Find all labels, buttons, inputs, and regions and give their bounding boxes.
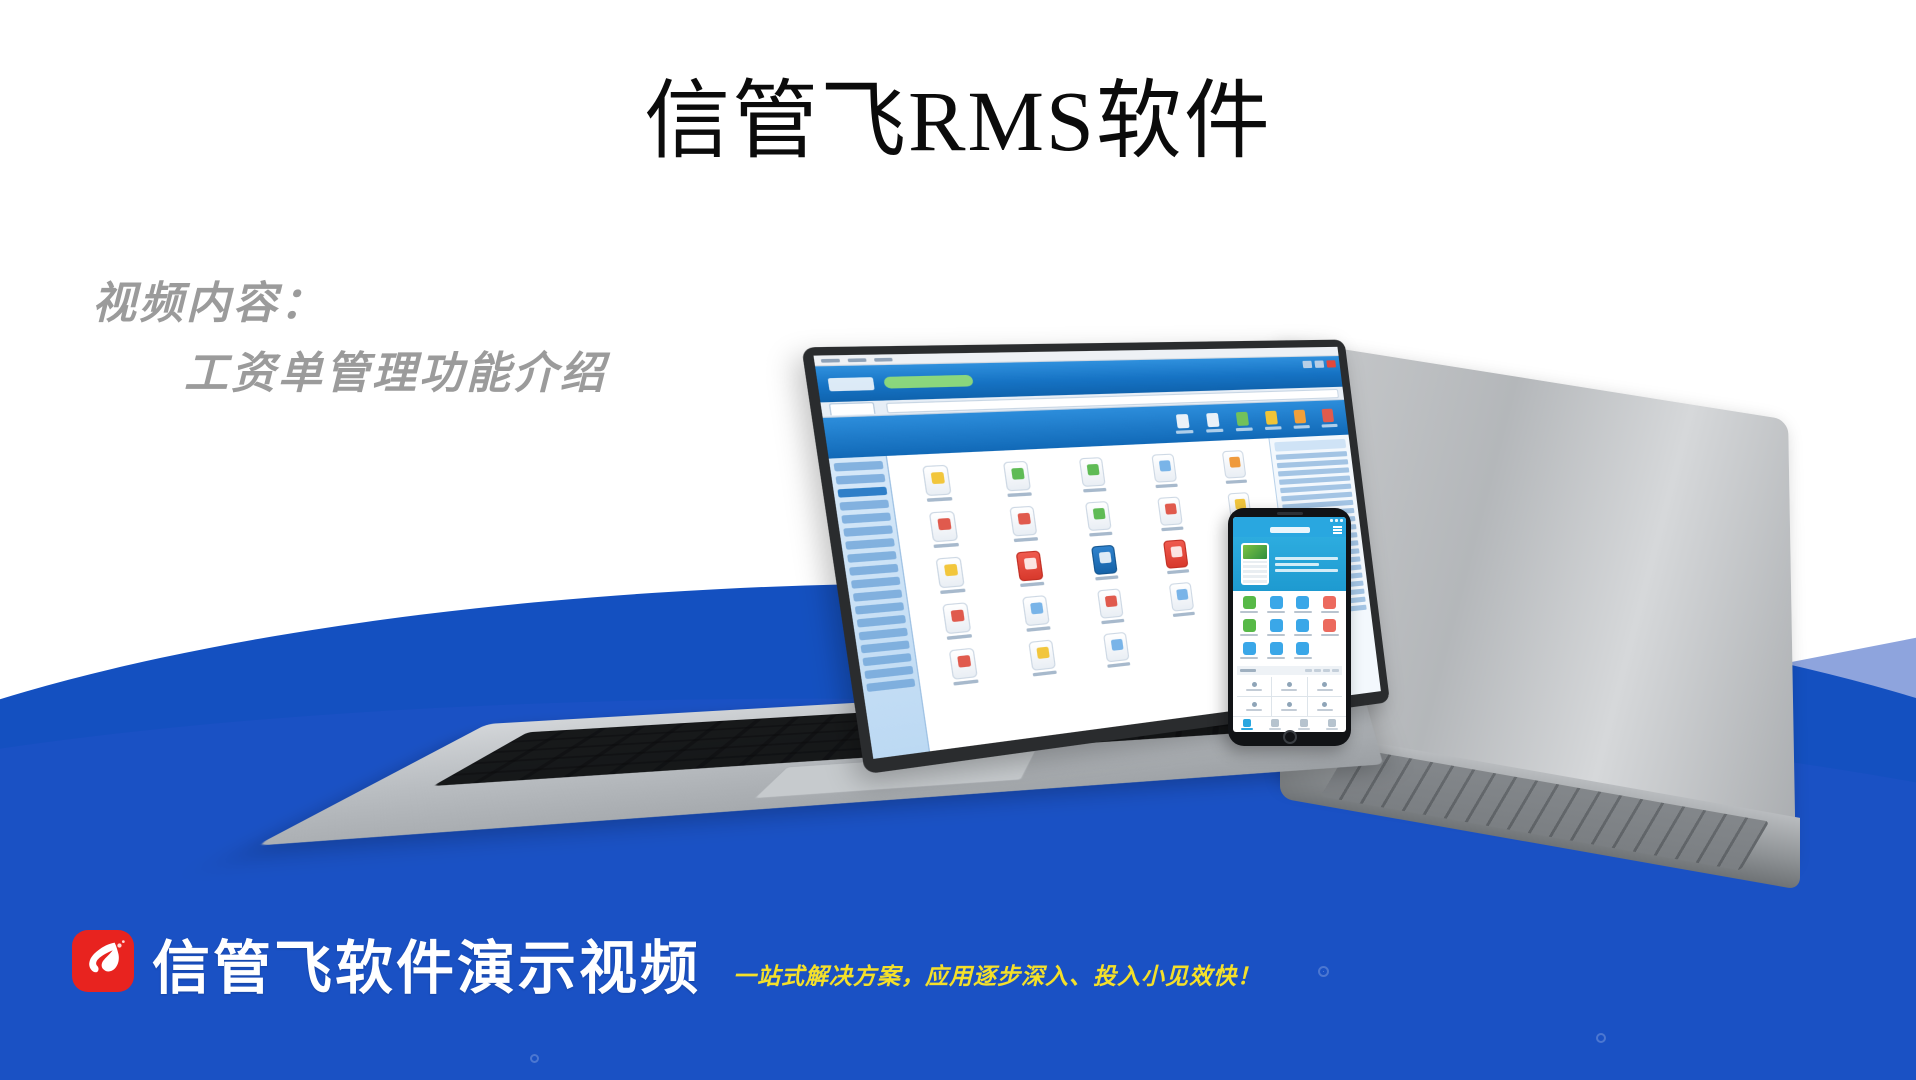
sidebar-item[interactable]	[866, 678, 915, 692]
module-icon-label	[1032, 671, 1056, 677]
stat-card-icon	[1252, 682, 1257, 687]
app-module-icon[interactable]	[991, 549, 1068, 590]
shortcut-label	[1267, 611, 1285, 613]
module-icon-glyph	[1009, 506, 1037, 537]
module-icon-label	[1095, 575, 1118, 580]
hero-device-illustration	[1241, 543, 1269, 585]
shortcut-label	[1321, 634, 1339, 636]
mobile-shortcut-icon[interactable]	[1264, 642, 1289, 659]
mobile-shortcut-icon[interactable]	[1291, 596, 1316, 613]
mobile-stat-cards[interactable]	[1237, 677, 1342, 716]
menu-item[interactable]	[821, 358, 840, 362]
decorative-dot	[1318, 966, 1329, 977]
phone-earpiece	[1277, 512, 1303, 515]
module-icon-glyph	[1091, 545, 1118, 575]
module-icon-label	[1083, 488, 1106, 493]
tab-label	[1269, 728, 1281, 730]
minimize-icon[interactable]	[1302, 361, 1312, 368]
mobile-shortcut-icon[interactable]	[1264, 596, 1289, 613]
toolbar-icon	[1236, 412, 1249, 426]
module-icon-glyph	[1152, 454, 1178, 483]
module-icon-glyph	[922, 465, 952, 496]
module-icon-label	[1013, 537, 1037, 542]
stat-card-label	[1281, 689, 1297, 691]
toolbar-label	[1235, 427, 1252, 431]
hero-image	[1243, 545, 1267, 559]
stat-card-label	[1317, 709, 1333, 711]
shortcut-glyph	[1323, 596, 1336, 609]
toolbar-button[interactable]	[1203, 413, 1224, 433]
app-module-icon[interactable]	[978, 460, 1056, 499]
module-icon-glyph	[1222, 450, 1247, 479]
module-icon-label	[1162, 526, 1184, 531]
smartphone-mockup	[1228, 508, 1351, 746]
sidebar-item[interactable]	[864, 666, 913, 679]
shortcut-glyph	[1270, 642, 1283, 655]
shortcut-glyph	[1296, 619, 1309, 632]
tab-icon	[1243, 719, 1251, 727]
stat-card-label	[1246, 709, 1262, 711]
sidebar-item[interactable]	[839, 500, 889, 511]
mobile-section-header	[1237, 666, 1342, 675]
mobile-shortcut-icon[interactable]	[1317, 619, 1342, 636]
mobile-shortcut-icon[interactable]	[1237, 619, 1262, 636]
mobile-stat-card[interactable]	[1237, 677, 1271, 696]
shortcut-glyph	[1270, 619, 1283, 632]
app-module-icon[interactable]	[1200, 449, 1268, 485]
page-title: 信管飞RMS软件	[0, 72, 1916, 171]
video-content-block: 视频内容： 工资单管理功能介绍	[92, 282, 607, 396]
stat-card-icon	[1322, 682, 1327, 687]
mobile-stat-card[interactable]	[1272, 677, 1306, 696]
xinguanfei-bird-logo-icon	[72, 930, 134, 992]
module-icon-glyph	[949, 648, 978, 680]
shortcut-label	[1294, 611, 1312, 613]
sidebar-item[interactable]	[837, 487, 887, 498]
sidebar-item[interactable]	[843, 525, 893, 537]
mobile-shortcut-grid[interactable]	[1233, 591, 1346, 664]
app-module-icon[interactable]	[1129, 452, 1200, 489]
app-module-icon[interactable]	[910, 555, 991, 597]
app-module-icon[interactable]	[984, 504, 1061, 544]
shortcut-glyph	[1270, 596, 1283, 609]
shortcut-label	[1267, 657, 1285, 659]
app-module-icon[interactable]	[1141, 538, 1211, 577]
mobile-shortcut-icon[interactable]	[1237, 596, 1262, 613]
module-icon-label	[1225, 480, 1246, 484]
module-icon-glyph	[1163, 539, 1189, 569]
module-icon-glyph	[1103, 632, 1130, 663]
tab-icon	[1300, 719, 1308, 727]
toolbar-label	[1321, 424, 1337, 428]
sidebar-item[interactable]	[862, 653, 911, 666]
toolbar-icon	[1265, 411, 1278, 425]
sidebar-item[interactable]	[849, 564, 899, 576]
tab-item[interactable]	[829, 402, 876, 415]
module-icon-glyph	[929, 511, 958, 543]
video-content-label: 视频内容：	[92, 282, 607, 326]
tab-label	[1298, 728, 1310, 730]
stat-card-icon	[1322, 702, 1327, 707]
shortcut-label	[1240, 657, 1258, 659]
battery-icon	[1340, 519, 1343, 522]
app-module-icon[interactable]	[923, 645, 1003, 688]
phone-screen-content	[1233, 517, 1346, 732]
mobile-tab-item[interactable]	[1261, 717, 1289, 732]
hero-rows	[1243, 561, 1267, 583]
module-icon-label	[940, 588, 966, 594]
stat-card-label	[1317, 689, 1333, 691]
module-icon-glyph	[942, 602, 971, 634]
sidebar-item[interactable]	[847, 551, 897, 563]
app-module-icon[interactable]	[1061, 500, 1135, 539]
stat-card-icon	[1287, 682, 1292, 687]
shortcut-glyph	[1243, 619, 1256, 632]
module-icon-glyph	[1097, 588, 1124, 619]
close-icon[interactable]	[1326, 360, 1336, 367]
app-module-icon[interactable]	[997, 593, 1074, 634]
tab-label	[1326, 728, 1338, 730]
toolbar-button[interactable]	[1233, 412, 1253, 432]
shortcut-label	[1267, 634, 1285, 636]
toolbar-button[interactable]	[1173, 414, 1194, 434]
toolbar-button[interactable]	[1262, 411, 1282, 430]
module-icon-glyph	[1158, 496, 1184, 525]
menu-item[interactable]	[848, 358, 867, 362]
sidebar-item[interactable]	[859, 628, 908, 641]
mobile-stat-card[interactable]	[1308, 677, 1342, 696]
brand-tagline: 一站式解决方案，应用逐步深入、投入小见效快！	[733, 965, 1261, 988]
module-icon-glyph	[1028, 640, 1056, 671]
app-module-icon[interactable]	[1068, 543, 1142, 583]
module-icon-label	[1020, 582, 1044, 587]
mobile-stat-card[interactable]	[1308, 697, 1342, 716]
hero-text-lines	[1275, 557, 1338, 572]
module-icon-label	[1101, 619, 1124, 625]
sidebar-item[interactable]	[855, 602, 905, 615]
mobile-hero-banner	[1233, 537, 1346, 591]
shortcut-label	[1294, 657, 1312, 659]
shortcut-glyph	[1296, 642, 1309, 655]
app-module-icon[interactable]	[1003, 637, 1079, 679]
shortcut-label	[1240, 611, 1258, 613]
mobile-shortcut-icon[interactable]	[1317, 596, 1342, 613]
module-icon-glyph	[1079, 457, 1106, 487]
module-icon-label	[1107, 662, 1130, 668]
shortcut-glyph	[1243, 596, 1256, 609]
toolbar-label	[1175, 430, 1193, 434]
toolbar-icon	[1176, 414, 1190, 428]
tab-icon	[1271, 719, 1279, 727]
shortcut-glyph	[1323, 619, 1336, 632]
right-panel-row[interactable]	[1277, 459, 1349, 468]
app-module-icon[interactable]	[917, 600, 997, 643]
signal-icon	[1330, 519, 1333, 522]
stat-card-label	[1281, 709, 1297, 711]
app-module-icon[interactable]	[1080, 629, 1153, 670]
toolbar-label	[1264, 426, 1281, 430]
mobile-shortcut-icon[interactable]	[1237, 642, 1262, 659]
toolbar-icon	[1206, 413, 1220, 427]
app-module-icon[interactable]	[1055, 456, 1129, 494]
mobile-app-title	[1270, 527, 1310, 533]
mobile-tab-item[interactable]	[1233, 717, 1261, 732]
app-logo-icon	[828, 377, 875, 391]
phone-home-button[interactable]	[1283, 730, 1297, 744]
mobile-shortcut-icon[interactable]	[1291, 619, 1316, 636]
tab-label	[1241, 728, 1253, 730]
app-module-icon[interactable]	[896, 463, 977, 503]
module-icon-label	[927, 497, 953, 502]
right-panel-row[interactable]	[1276, 451, 1348, 460]
module-icon-glyph	[1002, 461, 1030, 492]
shortcut-glyph	[1243, 642, 1256, 655]
module-icon-label	[1089, 532, 1112, 537]
stat-card-label	[1246, 689, 1262, 691]
stat-card-icon	[1287, 702, 1292, 707]
module-icon-glyph	[936, 557, 965, 589]
shortcut-label	[1240, 634, 1258, 636]
module-icon-label	[1167, 569, 1189, 574]
toolbar-button[interactable]	[1319, 409, 1338, 428]
decorative-dot	[530, 1054, 539, 1063]
window-controls[interactable]	[1302, 360, 1336, 368]
video-content-topic: 工资单管理功能介绍	[184, 352, 607, 396]
menu-item[interactable]	[874, 357, 893, 361]
section-title	[1240, 669, 1256, 672]
toolbar-label	[1206, 429, 1223, 433]
sidebar-item[interactable]	[851, 577, 901, 589]
tab-icon	[1328, 719, 1336, 727]
module-icon-label	[1007, 492, 1032, 497]
app-module-icon[interactable]	[903, 509, 984, 550]
mobile-tab-item[interactable]	[1318, 717, 1346, 732]
module-icon-glyph	[1021, 595, 1049, 626]
brand-title: 信管飞软件演示视频	[152, 940, 701, 998]
maximize-icon[interactable]	[1314, 360, 1324, 367]
bottom-brand-banner: 信管飞软件演示视频 一站式解决方案，应用逐步深入、投入小见效快！	[72, 930, 1261, 998]
mobile-stat-card[interactable]	[1237, 697, 1271, 716]
app-module-icon[interactable]	[1147, 580, 1217, 619]
device-mockup-cluster	[880, 390, 1916, 950]
module-icon-label	[954, 679, 979, 685]
toolbar-icon	[1322, 409, 1335, 423]
hamburger-menu-icon[interactable]	[1333, 526, 1342, 534]
module-icon-label	[947, 634, 972, 640]
wifi-icon	[1335, 519, 1338, 522]
toolbar-label	[1293, 425, 1309, 429]
module-icon-label	[1173, 612, 1195, 617]
app-module-icon[interactable]	[1135, 495, 1206, 533]
module-icon-label	[1156, 484, 1178, 489]
sidebar-item[interactable]	[834, 461, 884, 472]
mobile-app-navbar	[1233, 523, 1346, 537]
mobile-shortcut-icon[interactable]	[1291, 642, 1316, 659]
module-icon-glyph	[1169, 582, 1194, 612]
sidebar-item[interactable]	[853, 589, 903, 601]
sidebar-item[interactable]	[841, 512, 891, 523]
mobile-stat-card[interactable]	[1272, 697, 1306, 716]
sidebar-item[interactable]	[857, 615, 906, 628]
shortcut-label	[1294, 634, 1312, 636]
app-header-highlight	[883, 375, 973, 389]
right-panel-header	[1274, 439, 1346, 452]
decorative-dot	[1596, 1033, 1606, 1043]
toolbar-button[interactable]	[1290, 410, 1310, 429]
presentation-slide: 信管飞RMS软件 视频内容： 工资单管理功能介绍	[0, 0, 1916, 1080]
mobile-shortcut-icon[interactable]	[1264, 619, 1289, 636]
module-icon-label	[934, 543, 960, 548]
sidebar-item[interactable]	[845, 538, 895, 550]
module-icon-glyph	[1085, 501, 1112, 531]
sidebar-item[interactable]	[860, 640, 909, 653]
shortcut-label	[1321, 611, 1339, 613]
toolbar-icon	[1293, 410, 1306, 424]
stat-card-icon	[1252, 702, 1257, 707]
sidebar-item[interactable]	[835, 474, 885, 485]
app-module-icon[interactable]	[1074, 586, 1147, 626]
module-icon-label	[1026, 626, 1050, 632]
mobile-tab-item[interactable]	[1290, 717, 1318, 732]
section-filter-tabs[interactable]	[1305, 669, 1339, 672]
shortcut-glyph	[1296, 596, 1309, 609]
module-icon-glyph	[1015, 551, 1043, 582]
